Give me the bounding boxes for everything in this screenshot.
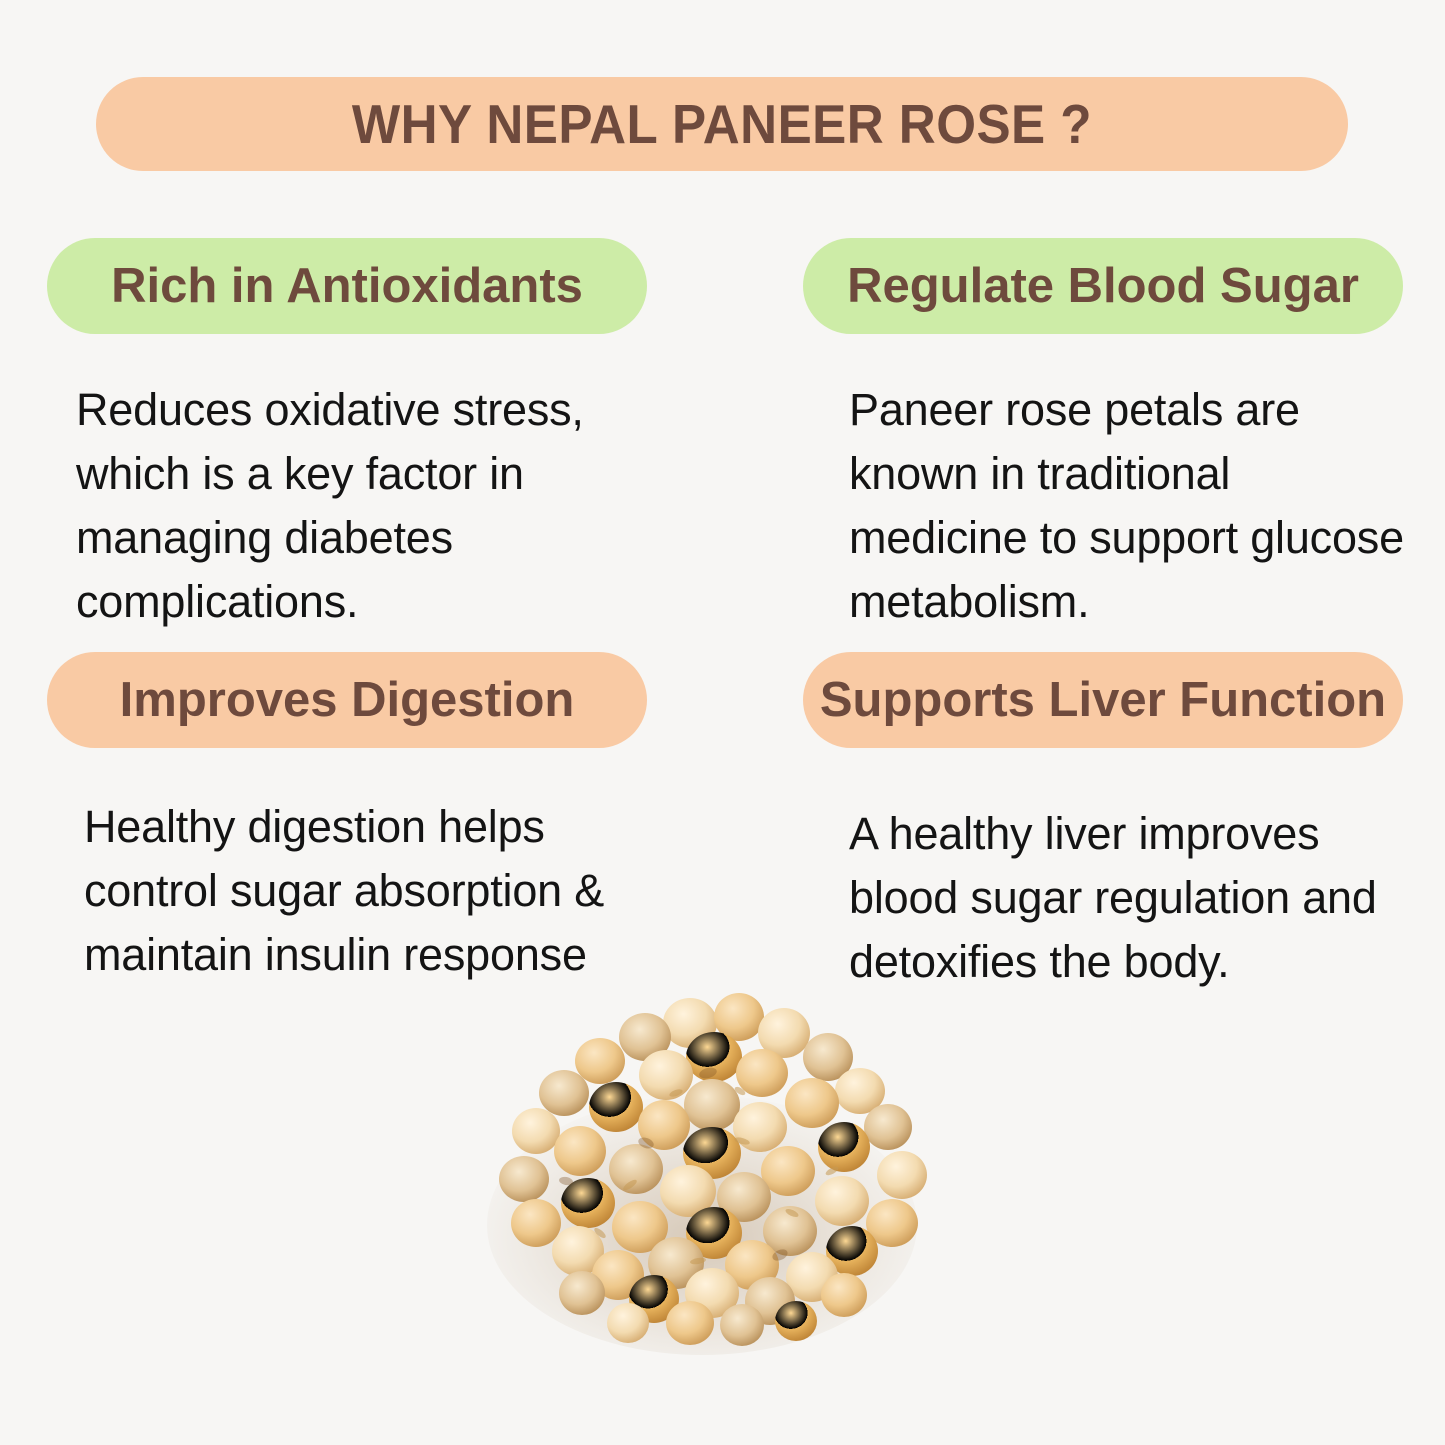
benefit-heading-label-liver: Supports Liver Function <box>803 672 1403 728</box>
benefit-heading-pill-antioxidants: Rich in Antioxidants <box>47 238 647 334</box>
benefit-heading-label-blood-sugar: Regulate Blood Sugar <box>803 258 1403 314</box>
benefit-heading-pill-blood-sugar: Regulate Blood Sugar <box>803 238 1403 334</box>
benefit-heading-pill-liver: Supports Liver Function <box>803 652 1403 748</box>
benefit-heading-label-antioxidants: Rich in Antioxidants <box>47 258 647 314</box>
benefit-body-blood-sugar: Paneer rose petals are known in traditio… <box>849 378 1409 634</box>
paneer-rose-seeds-image <box>440 975 960 1365</box>
benefit-body-antioxidants: Reduces oxidative stress, which is a key… <box>76 378 676 634</box>
page-title: WHY NEPAL PANEER ROSE ? <box>352 92 1092 156</box>
benefit-body-digestion: Healthy digestion helps control sugar ab… <box>84 795 664 987</box>
benefit-body-liver: A healthy liver improves blood sugar reg… <box>849 802 1409 994</box>
benefit-heading-pill-digestion: Improves Digestion <box>47 652 647 748</box>
title-banner: WHY NEPAL PANEER ROSE ? <box>96 77 1348 171</box>
benefit-heading-label-digestion: Improves Digestion <box>47 672 647 728</box>
infographic-page: WHY NEPAL PANEER ROSE ? Rich in Antioxid… <box>0 0 1445 1445</box>
